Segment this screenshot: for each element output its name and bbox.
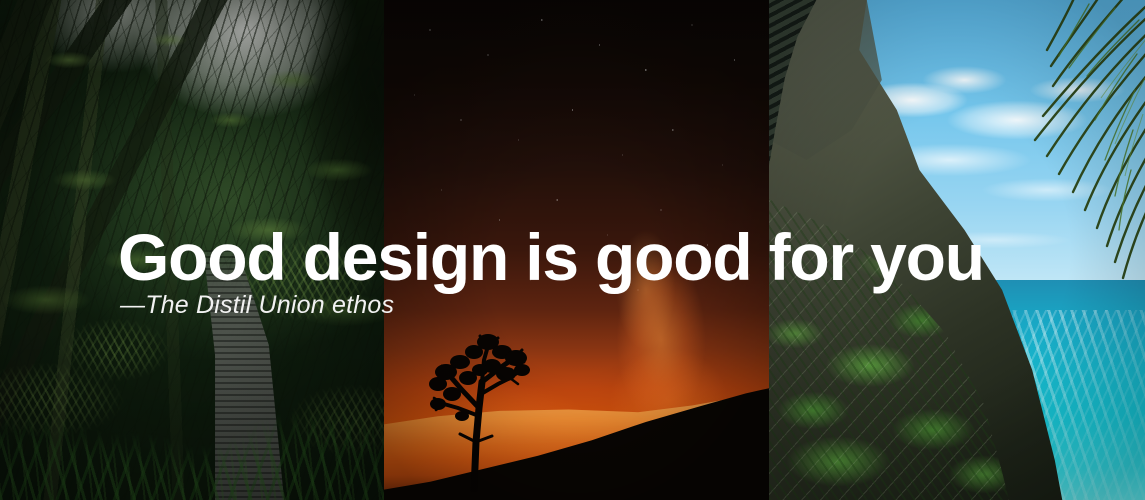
panel-jungle (0, 0, 384, 500)
jungle-vignette (0, 0, 384, 500)
panel-coast (769, 0, 1145, 500)
panel-volcano (384, 0, 769, 500)
hero-banner: Good design is good for you —The Distil … (0, 0, 1145, 500)
volcano-vignette (384, 0, 769, 500)
image-panel-strip (0, 0, 1145, 500)
coast-vignette (769, 0, 1145, 500)
